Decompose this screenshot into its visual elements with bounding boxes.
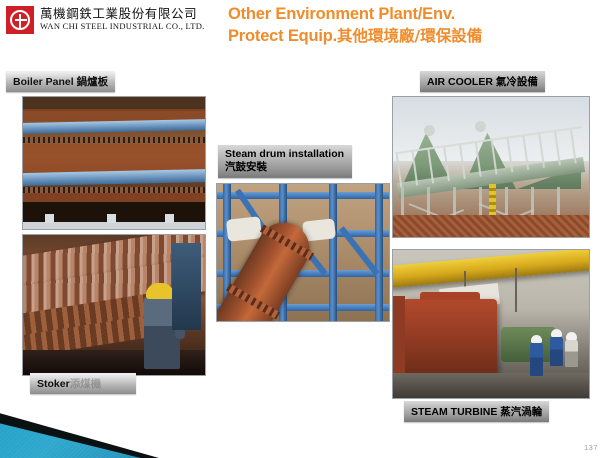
caption-stoker-cn: 添煤機 [70, 378, 102, 390]
caption-air-cooler: AIR COOLER 氣冷設備 [420, 71, 545, 92]
caption-steam-turbine-en: STEAM TURBINE [411, 406, 500, 418]
caption-boiler-panel: Boiler Panel 鍋爐板 [6, 71, 115, 92]
caption-steam-turbine-cn: 蒸汽渦輪 [500, 406, 542, 418]
caption-air-cooler-en: AIR COOLER [427, 76, 496, 88]
slide-canvas: 萬機鋼鉄工業股份有限公司 WAN CHI STEEL INDUSTRIAL CO… [0, 0, 610, 458]
page-title-line2: Protect Equip.其他環境廠/環保設備 [228, 26, 606, 48]
caption-stoker: Stoker添煤機 [30, 373, 136, 394]
gear-logo-icon [6, 6, 34, 34]
caption-boiler-panel-cn: 鍋爐板 [77, 76, 109, 88]
page-number: 137 [584, 443, 598, 452]
corner-decoration [0, 386, 210, 458]
caption-steam-drum-cn: 汽鼓安裝 [225, 161, 344, 174]
steam-drum-photo [216, 183, 390, 322]
caption-steam-drum-en: Steam drum installation [225, 148, 344, 160]
caption-steam-drum: Steam drum installation 汽鼓安裝 [218, 145, 352, 178]
caption-air-cooler-cn: 氣冷設備 [496, 76, 538, 88]
page-title-line1: Other Environment Plant/Env. [228, 5, 455, 23]
caption-stoker-en: Stoker [37, 378, 70, 390]
company-name-block: 萬機鋼鉄工業股份有限公司 WAN CHI STEEL INDUSTRIAL CO… [40, 6, 205, 31]
page-title-line2-en: Protect Equip. [228, 27, 337, 45]
company-name-cn: 萬機鋼鉄工業股份有限公司 [40, 7, 205, 20]
company-brand: 萬機鋼鉄工業股份有限公司 WAN CHI STEEL INDUSTRIAL CO… [6, 6, 205, 34]
caption-steam-turbine: STEAM TURBINE 蒸汽渦輪 [404, 401, 549, 422]
steam-turbine-photo [392, 249, 590, 399]
air-cooler-photo [392, 96, 590, 238]
page-title: Other Environment Plant/Env. Protect Equ… [228, 4, 606, 48]
page-title-line2-cn: 其他環境廠/環保設備 [337, 27, 482, 45]
company-name-en: WAN CHI STEEL INDUSTRIAL CO., LTD. [40, 22, 205, 31]
caption-boiler-panel-en: Boiler Panel [13, 76, 77, 88]
stoker-photo [22, 234, 206, 376]
boiler-panel-photo [22, 96, 206, 230]
